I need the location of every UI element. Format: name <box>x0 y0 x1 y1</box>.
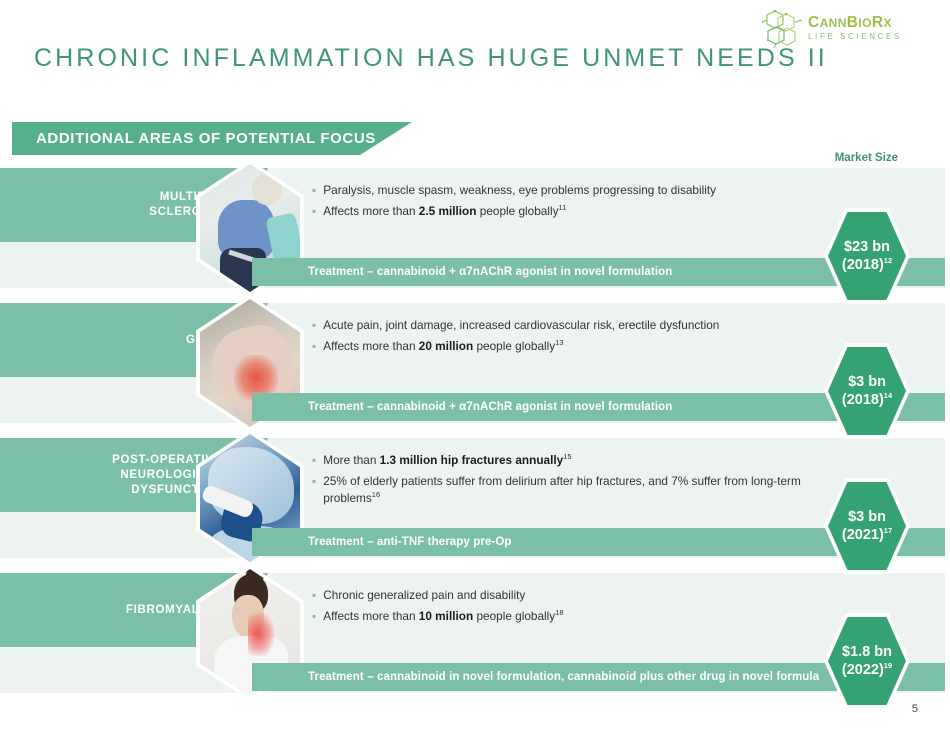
company-logo: CANNBIORX LIFE SCIENCES <box>762 8 932 48</box>
bullet-text: Chronic generalized pain and disability <box>323 587 832 604</box>
bullet-dot-icon: ▪ <box>312 452 316 469</box>
disease-row-gout: GOUT ▪ Acute pain, joint damage, increas… <box>0 303 950 423</box>
badge-value: $1.8 bn <box>842 643 892 661</box>
bullet-list: ▪ Acute pain, joint damage, increased ca… <box>312 317 832 359</box>
page-title: CHRONIC INFLAMMATION HAS HUGE UNMET NEED… <box>34 44 828 73</box>
bullet-dot-icon: ▪ <box>312 338 316 355</box>
logo-name: CANNBIORX <box>808 15 902 31</box>
badge-year: (2022)19 <box>842 661 892 679</box>
treatment-text: Treatment – cannabinoid + α7nAChR agonis… <box>308 266 672 278</box>
bullet-item: ▪ Affects more than 2.5 million people g… <box>312 203 832 220</box>
bullet-list: ▪ Chronic generalized pain and disabilit… <box>312 587 832 629</box>
treatment-text: Treatment – anti-TNF therapy pre-Op <box>308 536 512 548</box>
badge-value: $3 bn <box>848 508 886 526</box>
bullet-text: Affects more than 2.5 million people glo… <box>323 203 832 220</box>
section-banner-label: ADDITIONAL AREAS OF POTENTIAL FOCUS <box>36 130 376 147</box>
bullet-text: Paralysis, muscle spasm, weakness, eye p… <box>323 182 832 199</box>
disease-row-post-operative-neurological-dysfunction: POST-OPERATIVENEUROLOGICALDYSFUNCTION ▪ … <box>0 438 950 558</box>
badge-year: (2018)12 <box>842 256 892 274</box>
bullet-text: Affects more than 10 million people glob… <box>323 608 832 625</box>
hexagon-molecule-icon <box>762 8 804 48</box>
treatment-text: Treatment – cannabinoid in novel formula… <box>308 671 819 683</box>
bullet-item: ▪ Affects more than 20 million people gl… <box>312 338 832 355</box>
bullet-dot-icon: ▪ <box>312 608 316 625</box>
bullet-item: ▪ More than 1.3 million hip fractures an… <box>312 452 832 469</box>
bullet-item: ▪ Affects more than 10 million people gl… <box>312 608 832 625</box>
badge-year: (2021)17 <box>842 526 892 544</box>
bullet-item: ▪ Paralysis, muscle spasm, weakness, eye… <box>312 182 832 199</box>
bullet-dot-icon: ▪ <box>312 587 316 604</box>
bullet-dot-icon: ▪ <box>312 182 316 199</box>
bullet-text: More than 1.3 million hip fractures annu… <box>323 452 832 469</box>
badge-value: $23 bn <box>844 238 890 256</box>
bullet-text: Acute pain, joint damage, increased card… <box>323 317 832 334</box>
bullet-text: 25% of elderly patients suffer from deli… <box>323 473 832 507</box>
bullet-text: Affects more than 20 million people glob… <box>323 338 832 355</box>
logo-subtitle: LIFE SCIENCES <box>808 33 902 41</box>
bullet-item: ▪ Chronic generalized pain and disabilit… <box>312 587 832 604</box>
bullet-list: ▪ More than 1.3 million hip fractures an… <box>312 452 832 511</box>
disease-row-multiple-sclerosis: MULTIPLESCLEROSIS ▪ Paralysis, muscle sp… <box>0 168 950 288</box>
market-size-label: Market Size <box>835 152 898 164</box>
bullet-item: ▪ 25% of elderly patients suffer from de… <box>312 473 832 507</box>
bullet-list: ▪ Paralysis, muscle spasm, weakness, eye… <box>312 182 832 224</box>
badge-year: (2018)14 <box>842 391 892 409</box>
badge-value: $3 bn <box>848 373 886 391</box>
bullet-dot-icon: ▪ <box>312 203 316 220</box>
section-banner: ADDITIONAL AREAS OF POTENTIAL FOCUS <box>12 122 412 155</box>
page-number: 5 <box>912 703 918 715</box>
bullet-item: ▪ Acute pain, joint damage, increased ca… <box>312 317 832 334</box>
treatment-text: Treatment – cannabinoid + α7nAChR agonis… <box>308 401 672 413</box>
disease-row-fibromyalgia: FIBROMYALGIA ▪ Chronic generalized pain … <box>0 573 950 693</box>
bullet-dot-icon: ▪ <box>312 473 316 490</box>
bullet-dot-icon: ▪ <box>312 317 316 334</box>
